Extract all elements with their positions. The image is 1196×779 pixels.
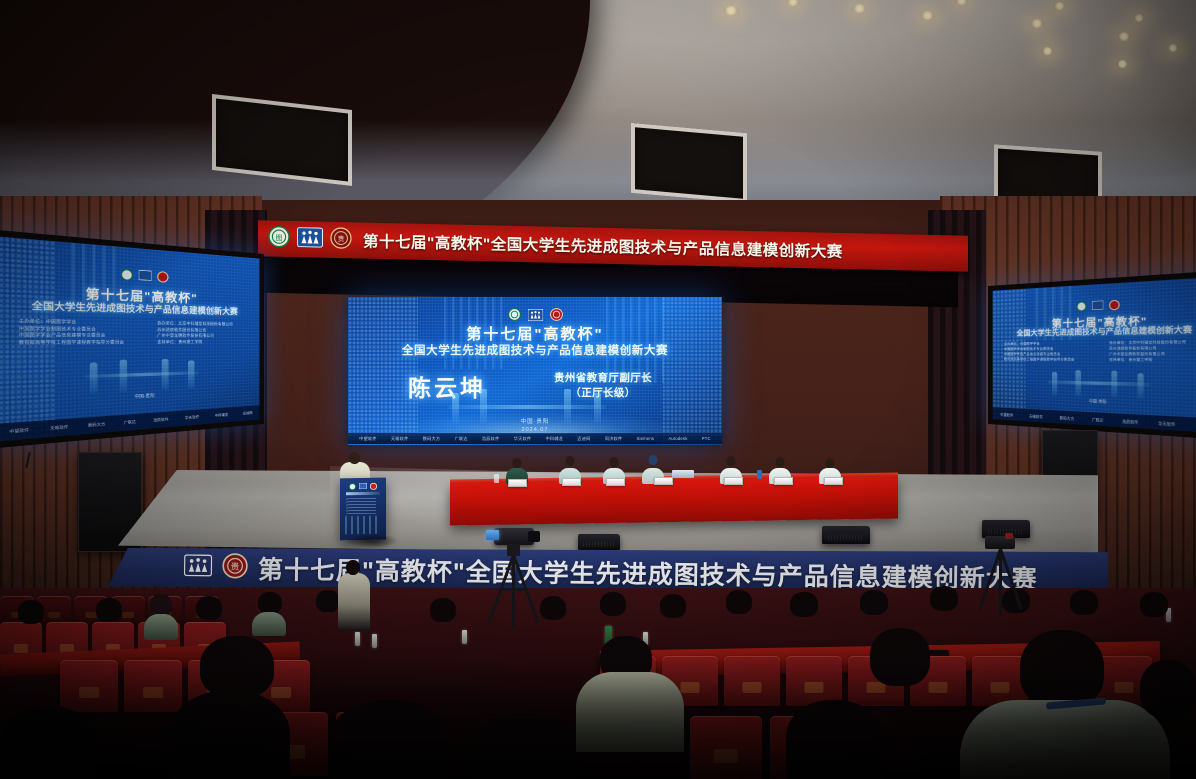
audience-member-foreground [1140, 660, 1196, 718]
audience-clothing [144, 614, 178, 640]
main-screen-sponsor-strip: 中望软件 天喻软件 数码大方 广联达 浩辰软件 华天软件 中科辅龙 迈迪网 同济… [348, 433, 722, 444]
name-card [654, 477, 673, 485]
side-screen-bullets-left: 主办单位：中国图学学会 中国图学学会制图技术专业委员会 中国图学学会产品信息建模… [19, 319, 124, 347]
sponsor-name: 中望软件 [9, 427, 29, 435]
university-seal-logo [370, 483, 377, 490]
ceiling-downlight [786, 0, 800, 6]
ceiling-panel [631, 123, 747, 203]
sponsor-name: 数码大方 [1060, 415, 1075, 421]
svg-text:贵: 贵 [338, 234, 345, 243]
sponsor-name: 浩辰软件 [1122, 418, 1138, 425]
tripod-spreader [500, 588, 528, 591]
lectern [340, 478, 386, 541]
audience-member [150, 594, 172, 616]
audience-member [196, 596, 222, 620]
red-banner-title: 第十七届"高教杯"全国大学生先进成图技术与产品信息建模创新大赛 [363, 230, 843, 262]
audience-clothing [252, 612, 286, 636]
three-figures-emblem-logo [297, 227, 323, 253]
sponsor-name: Siemens [637, 436, 655, 441]
sponsor-name: 天喻软件 [50, 424, 68, 432]
audience-member [1070, 590, 1098, 615]
audience-member [600, 592, 626, 616]
ceiling-downlight [1053, 2, 1066, 10]
audience-member [430, 598, 456, 622]
stage-monitor-speaker [578, 534, 620, 550]
lectern-text-block [346, 498, 376, 515]
university-seal-logo: 贵 [222, 552, 248, 583]
camera-lens [528, 531, 540, 542]
three-figures-emblem-logo [138, 270, 151, 281]
sponsor-name: 广联达 [455, 436, 468, 442]
sponsor-name: 迈迪网 [577, 436, 590, 442]
china-graphics-society-logo: 图 [268, 225, 290, 252]
name-card [724, 477, 743, 485]
sponsor-name: 广联达 [1092, 416, 1104, 422]
water-bottle-blue [757, 470, 762, 479]
ceiling-panel [212, 94, 352, 186]
audience-member-foreground [1020, 630, 1104, 708]
sponsor-name: Autodesk [668, 436, 687, 441]
lectern-logos [340, 483, 386, 491]
audience-member-foreground [786, 700, 882, 779]
audience-clothing [960, 700, 1170, 779]
name-card [562, 478, 581, 486]
audience-member [726, 590, 752, 614]
camera-tally-light [1005, 533, 1013, 539]
main-led-screen: 第十七届"高教杯" 全国大学生先进成图技术与产品信息建模创新大赛 陈云坤 贵州省… [348, 297, 722, 445]
sponsor-name: 华天软件 [514, 436, 532, 442]
name-card [774, 477, 793, 485]
audience-member-foreground [200, 636, 274, 698]
sponsor-name: 天喻软件 [391, 436, 409, 442]
main-screen-title-line2: 全国大学生先进成图技术与产品信息建模创新大赛 [348, 342, 722, 358]
sponsor-name: 数码大方 [423, 436, 441, 442]
audience-member [860, 590, 888, 615]
speaker-name-display: 陈云坤 [408, 369, 486, 403]
camera-flip-screen [486, 530, 499, 540]
lectern-title-line [346, 492, 380, 496]
ceiling-downlight [723, 6, 739, 15]
side-screen-bullets-left: 主办单位：中国图学学会 中国图学学会制图技术专业委员会 中国图学学会产品信息建模… [1004, 341, 1075, 362]
audience-clothing [576, 672, 684, 752]
main-screen-title-line1: 第十七届"高教杯" [348, 323, 722, 344]
university-seal-logo [157, 271, 168, 283]
side-led-screen-left: 第十七届"高教杯" 全国大学生先进成图技术与产品信息建模创新大赛 主办单位：中国… [0, 229, 264, 448]
audience-member-foreground [330, 700, 450, 779]
bullet-item: 教育部高等学校工程图学课程教学指导分委员会 [19, 340, 124, 347]
sponsor-name: 中科辅龙 [546, 436, 564, 442]
audience-member-foreground [470, 714, 580, 779]
speaker-role-line2: （正厅长级） [528, 386, 678, 401]
speaker-head [349, 452, 360, 464]
sponsor-name: PTC [702, 436, 711, 441]
sponsor-name: 中科辅龙 [215, 412, 229, 418]
audience-member [1140, 592, 1168, 617]
audience-member [96, 598, 122, 622]
audience-member-foreground [0, 706, 96, 779]
sponsor-name: 浩辰软件 [482, 436, 500, 442]
theater-seat[interactable] [724, 656, 780, 706]
sponsor-name: 天喻软件 [1029, 413, 1043, 419]
audience-member [660, 594, 686, 618]
bullet-item: 支持单位：贵州理工学院 [1109, 357, 1186, 363]
theater-seat[interactable] [690, 716, 762, 779]
ceiling-downlight [1117, 32, 1131, 41]
sponsor-name: 华天软件 [185, 414, 199, 420]
bullet-item: 支持单位：贵州理工学院 [157, 340, 233, 346]
side-screen-bullets-right: 协办单位：北京中科辅龙科技股份有限公司 苏州浩辰软件股份有限公司 广州中望龙腾软… [157, 321, 233, 346]
svg-text:图: 图 [276, 234, 283, 242]
ceiling-downlight [955, 0, 968, 5]
place-line1: 中国·贵阳 [348, 418, 722, 426]
name-card [606, 478, 625, 486]
sponsor-name: 华天软件 [1158, 420, 1175, 427]
ceiling-downlight [1030, 19, 1044, 28]
ceiling-downlight [1041, 47, 1054, 55]
ceiling-downlight [920, 11, 935, 20]
tripod-leg [999, 549, 1023, 610]
theater-seat[interactable] [60, 660, 118, 712]
audience-member [930, 586, 958, 611]
audience-member [258, 592, 282, 614]
name-card [824, 477, 843, 485]
speaker-role-line1: 贵州省教育厅副厅长 [528, 371, 678, 386]
ceiling-downlight [1167, 44, 1179, 52]
audience-member [790, 592, 818, 617]
audience-member-foreground [870, 628, 930, 686]
sponsor-name: 中望软件 [359, 436, 377, 442]
university-seal-logo [1109, 300, 1119, 311]
bridge-graphic-deck [448, 405, 606, 409]
three-figures-emblem-logo [184, 554, 212, 581]
side-led-screen-right: 第十七届"高教杯" 全国大学生先进成图技术与产品信息建模创新大赛 主办单位：中国… [988, 270, 1196, 441]
bullet-item: 教育部高等学校工程图学课程教学指导分委员会 [1004, 357, 1075, 362]
china-graphics-society-logo [120, 269, 132, 281]
ceiling-downlight [1133, 14, 1145, 22]
standing-photographer [336, 560, 372, 632]
china-graphics-society-logo [1077, 302, 1087, 312]
water-glass [494, 474, 499, 483]
video-camera-rig [480, 528, 550, 628]
sponsor-name: 中望软件 [1000, 411, 1013, 417]
water-bottle [462, 630, 467, 644]
theater-seat[interactable] [124, 660, 182, 712]
stage-monitor-speaker [822, 526, 870, 544]
water-bottle [372, 634, 377, 648]
university-seal-logo: 贵 [330, 226, 352, 253]
sponsor-name: 浩辰软件 [153, 416, 168, 423]
photographer-head [346, 560, 360, 575]
name-card [508, 479, 527, 487]
ceiling-downlight [852, 4, 867, 13]
tripod-leg [512, 555, 515, 629]
water-bottle [355, 632, 360, 646]
lectern-skyline-graphic [345, 516, 381, 535]
photographer-body [338, 573, 370, 631]
china-graphics-society-logo [349, 483, 356, 490]
sponsor-name: 迈迪网 [243, 410, 253, 416]
speaker-role-display: 贵州省教育厅副厅长 （正厅长级） [528, 371, 678, 401]
audience-member-foreground [170, 690, 290, 779]
video-camera-rig-secondary [975, 536, 1027, 622]
conference-hall-photo: 图 贵 第十七届"高教杯"全国大学生先进成图技术与产品信息建模创新大赛 [0, 0, 1196, 779]
lectern-shadow [346, 534, 398, 548]
three-figures-emblem-logo [1092, 301, 1103, 310]
ceiling-downlight [1116, 60, 1129, 68]
theater-seat[interactable] [786, 656, 842, 706]
three-figures-emblem-logo [359, 483, 367, 489]
sponsor-name: 同济软件 [605, 436, 623, 442]
sponsor-name: 广联达 [124, 419, 136, 426]
laptop-on-table [672, 470, 694, 478]
svg-text:贵: 贵 [231, 560, 240, 571]
sponsor-name: 数码大方 [88, 421, 105, 428]
side-screen-bullets-right: 协办单位：北京中科辅龙科技股份有限公司 苏州浩辰软件股份有限公司 广州中望龙腾软… [1109, 340, 1186, 363]
audience-member [18, 600, 44, 624]
